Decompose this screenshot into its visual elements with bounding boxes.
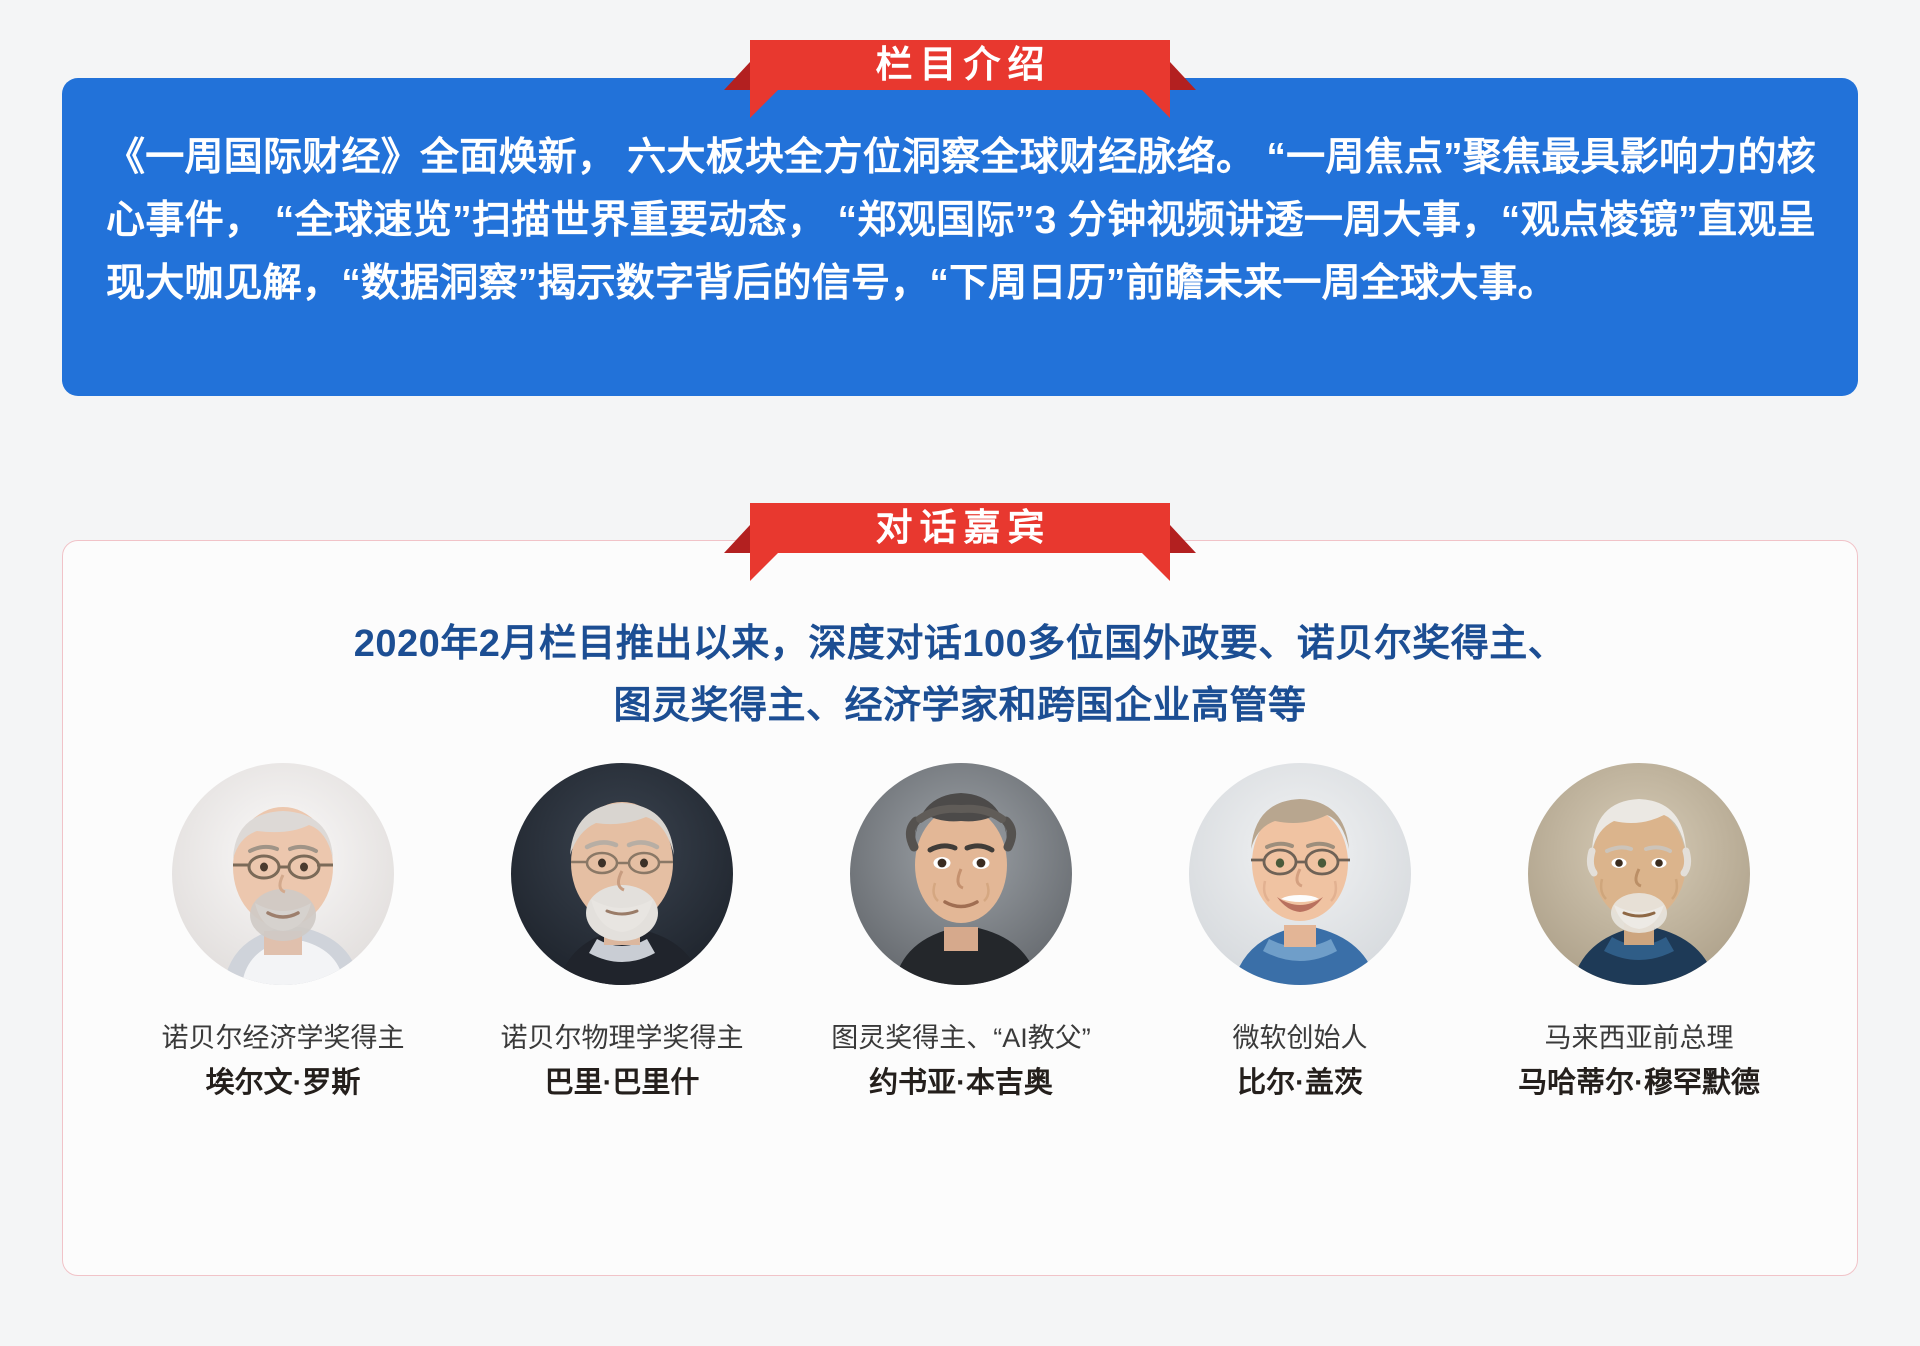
guests-ribbon-banner: 对话嘉宾 [750, 503, 1170, 581]
avatar [511, 763, 733, 985]
portrait-barry-barish-icon [511, 763, 733, 985]
guests-ribbon-label: 对话嘉宾 [750, 503, 1170, 553]
guests-heading-line-2: 图灵奖得主、经济学家和跨国企业高管等 [63, 675, 1857, 737]
guest-name: 巴里·巴里什 [545, 1063, 700, 1103]
guests-list: 诺贝尔经济学奖得主 埃尔文·罗斯 [123, 763, 1799, 1103]
guest-role: 图灵奖得主、“AI教父” [831, 1019, 1091, 1057]
guest-role: 马来西亚前总理 [1545, 1019, 1734, 1057]
guests-heading-line-1: 2020年2月栏目推出以来，深度对话100多位国外政要、诺贝尔奖得主、 [63, 613, 1857, 675]
ribbon-fold-left-icon [724, 525, 750, 553]
avatar [850, 763, 1072, 985]
avatar [172, 763, 394, 985]
guest-item[interactable]: 诺贝尔物理学奖得主 巴里·巴里什 [462, 763, 782, 1103]
intro-ribbon-label: 栏目介绍 [750, 40, 1170, 90]
portrait-alvin-roth-icon [172, 763, 394, 985]
program-intro-panel: 《一周国际财经》全面焕新， 六大板块全方位洞察全球财经脉络。 “一周焦点”聚焦最… [62, 78, 1858, 396]
guest-role: 诺贝尔经济学奖得主 [162, 1019, 405, 1057]
portrait-yoshua-bengio-icon [850, 763, 1072, 985]
guest-item[interactable]: 图灵奖得主、“AI教父” 约书亚·本吉奥 [801, 763, 1121, 1103]
program-intro-text: 《一周国际财经》全面焕新， 六大板块全方位洞察全球财经脉络。 “一周焦点”聚焦最… [106, 126, 1816, 315]
guest-role: 微软创始人 [1233, 1019, 1368, 1057]
avatar [1528, 763, 1750, 985]
ribbon-fold-right-icon [1170, 525, 1196, 553]
guest-item[interactable]: 马来西亚前总理 马哈蒂尔·穆罕默德 [1479, 763, 1799, 1103]
intro-ribbon-banner: 栏目介绍 [750, 40, 1170, 118]
dialogue-guests-card: 2020年2月栏目推出以来，深度对话100多位国外政要、诺贝尔奖得主、 图灵奖得… [62, 540, 1858, 1276]
ribbon-fold-right-icon [1170, 62, 1196, 90]
guest-item[interactable]: 微软创始人 比尔·盖茨 [1140, 763, 1460, 1103]
guest-role: 诺贝尔物理学奖得主 [501, 1019, 744, 1057]
guest-name: 埃尔文·罗斯 [206, 1063, 361, 1103]
portrait-mahathir-mohamad-icon [1528, 763, 1750, 985]
ribbon-fold-left-icon [724, 62, 750, 90]
guest-name: 比尔·盖茨 [1237, 1063, 1363, 1103]
guest-name: 马哈蒂尔·穆罕默德 [1518, 1063, 1760, 1103]
guest-name: 约书亚·本吉奥 [869, 1063, 1053, 1103]
portrait-bill-gates-icon [1189, 763, 1411, 985]
guest-item[interactable]: 诺贝尔经济学奖得主 埃尔文·罗斯 [123, 763, 443, 1103]
avatar [1189, 763, 1411, 985]
guests-heading: 2020年2月栏目推出以来，深度对话100多位国外政要、诺贝尔奖得主、 图灵奖得… [63, 613, 1857, 737]
